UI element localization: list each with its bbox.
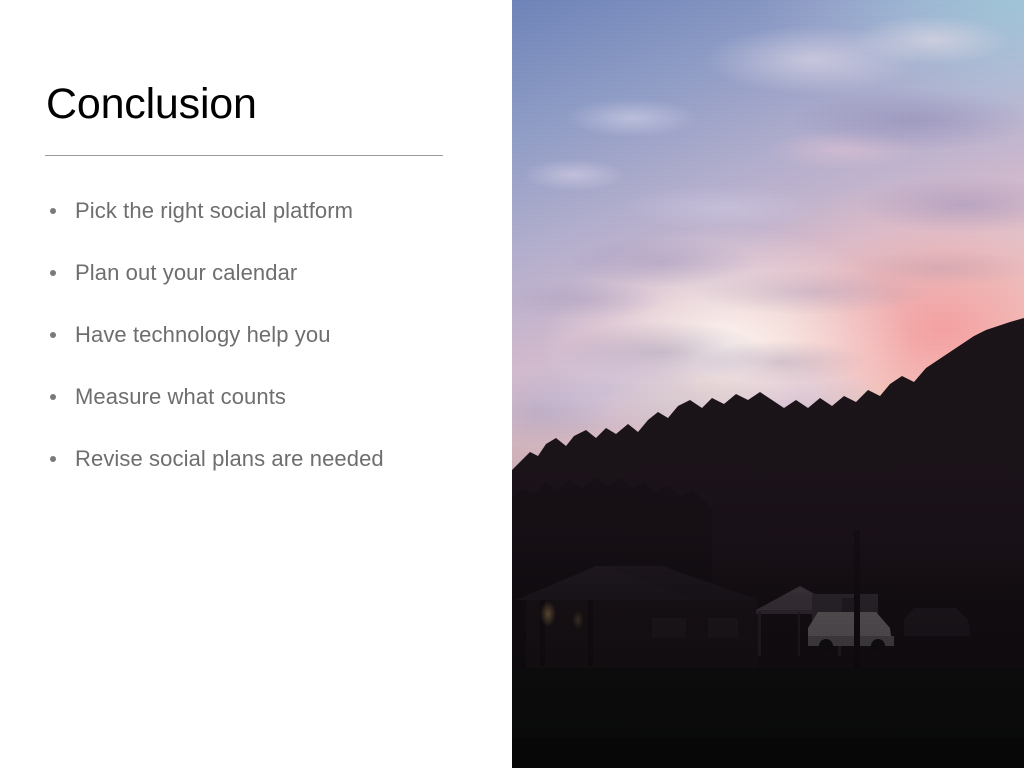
bullet-list: Pick the right social platform Plan out … [45, 180, 505, 490]
list-item: Have technology help you [45, 304, 505, 366]
list-item-label: Revise social plans are needed [75, 446, 384, 472]
list-item-label: Plan out your calendar [75, 260, 297, 286]
list-item-label: Measure what counts [75, 384, 286, 410]
list-item: Plan out your calendar [45, 242, 505, 304]
page-title: Conclusion [46, 82, 257, 127]
sunset-photo [512, 0, 1024, 768]
film-grain [512, 0, 1024, 768]
bullet-dot-icon [50, 208, 56, 214]
title-divider [45, 155, 443, 156]
bullet-dot-icon [50, 332, 56, 338]
list-item-label: Have technology help you [75, 322, 331, 348]
list-item: Pick the right social platform [45, 180, 505, 242]
list-item: Revise social plans are needed [45, 428, 505, 490]
list-item: Measure what counts [45, 366, 505, 428]
bullet-dot-icon [50, 394, 56, 400]
list-item-label: Pick the right social platform [75, 198, 353, 224]
text-panel: Conclusion Pick the right social platfor… [0, 0, 512, 768]
bullet-dot-icon [50, 270, 56, 276]
bullet-dot-icon [50, 456, 56, 462]
presentation-slide: Conclusion Pick the right social platfor… [0, 0, 1024, 768]
